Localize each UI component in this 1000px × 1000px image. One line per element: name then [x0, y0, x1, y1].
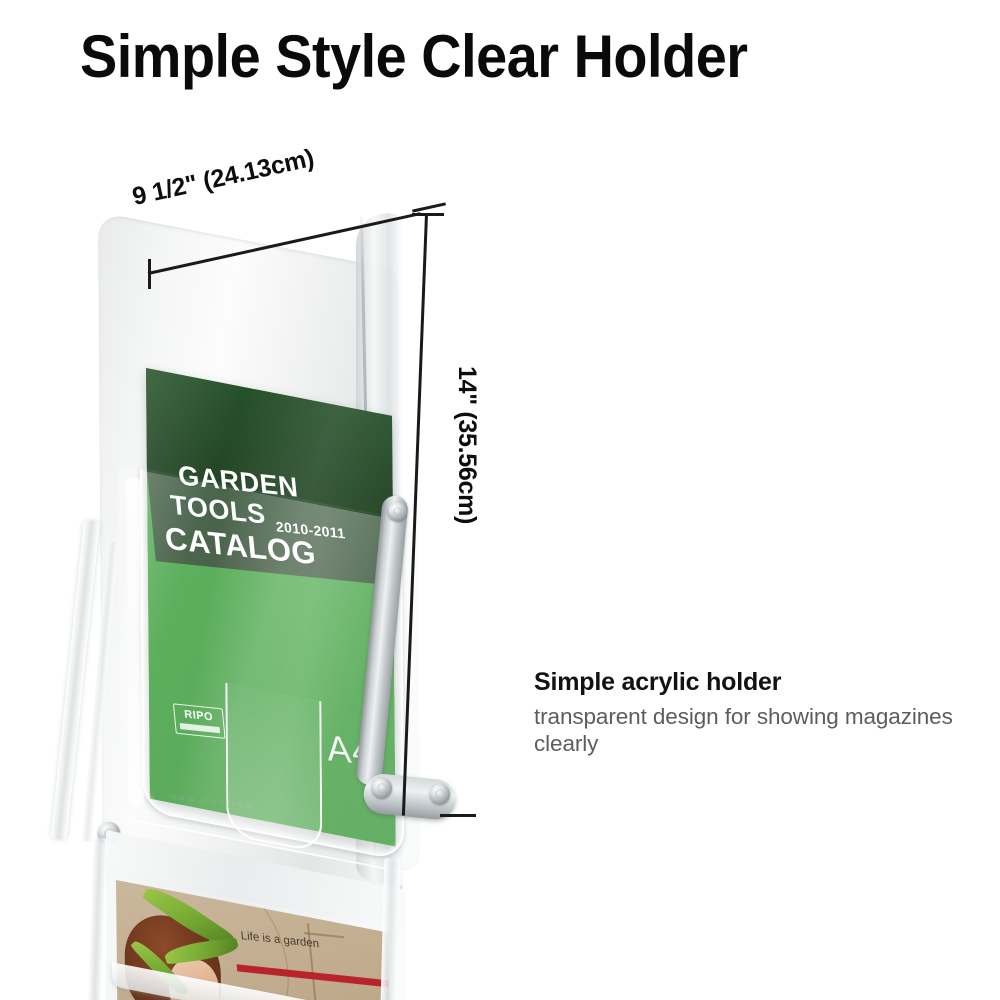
feature-caption: Simple acrylic holder transparent design… [534, 668, 964, 758]
caption-body: transparent design for showing magazines… [534, 703, 964, 758]
product-image-canvas: Simple Style Clear Holder GARDEN TOOLS 2… [0, 0, 1000, 1000]
width-dimension-line [148, 212, 426, 302]
page-title: Simple Style Clear Holder [80, 22, 880, 91]
screw-head-inner [393, 507, 402, 516]
width-tick-left [148, 259, 151, 289]
height-tick-top [412, 213, 444, 216]
width-dimension-bar [148, 212, 421, 274]
screw-head-inner [435, 789, 445, 799]
screw-top-pivot [388, 502, 407, 521]
pocket-specular-highlight [126, 476, 144, 810]
height-dimension-label: 14" (35.56cm) [452, 366, 481, 524]
product-photo: GARDEN TOOLS 2010-2011 CATALOG RIPO A4 w… [60, 190, 460, 1000]
screw-bracket-left [372, 778, 392, 798]
caption-heading: Simple acrylic holder [534, 668, 964, 697]
screw-bracket-right [430, 784, 450, 804]
pocket-finger-notch [225, 683, 322, 854]
height-tick-bottom [440, 814, 476, 817]
screw-head-inner [377, 783, 387, 793]
base-glass-left-edge [87, 838, 107, 1000]
